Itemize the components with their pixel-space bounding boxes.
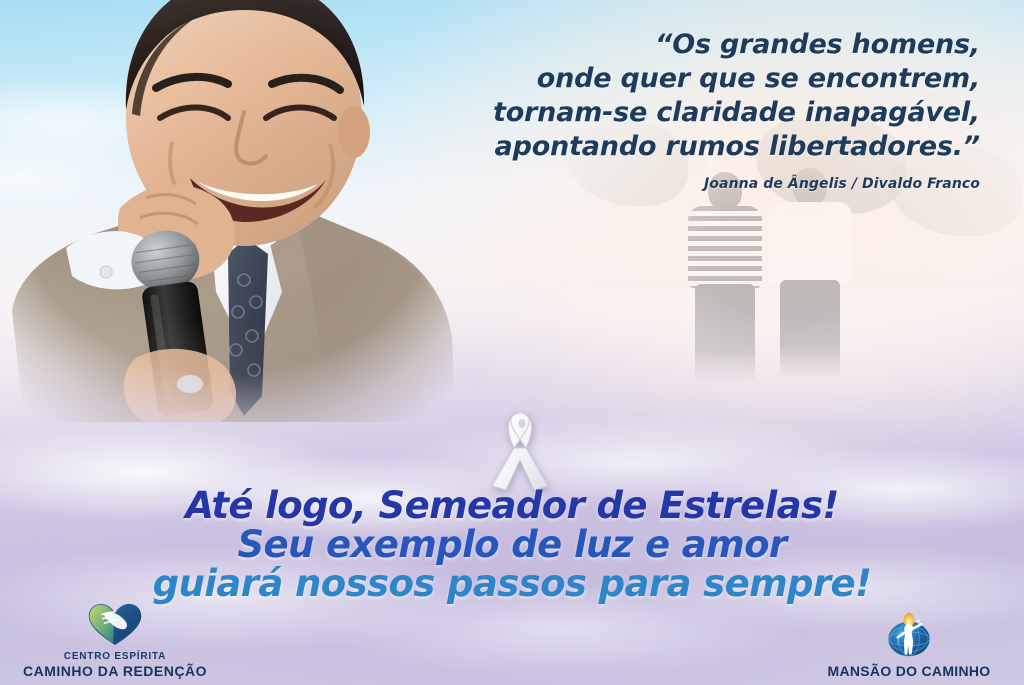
heart-hands-icon: [87, 602, 143, 646]
logo-right-line-1: MANSÃO DO CAMINHO: [802, 663, 1016, 679]
quote-line-4: apontando rumos libertadores.”: [340, 130, 980, 164]
headline-line-1: Até logo, Semeador de Estrelas!: [0, 486, 1024, 525]
logo-mansao-do-caminho: MANSÃO DO CAMINHO: [802, 613, 1016, 679]
quote-line-2: onde quer que se encontrem,: [340, 62, 980, 96]
logo-centro-espirita: CENTRO ESPÍRITA CAMINHO DA REDENÇÃO: [8, 602, 222, 679]
headline-line-2: Seu exemplo de luz e amor: [0, 525, 1024, 564]
quote-line-3: tornam-se claridade inapagável,: [340, 96, 980, 130]
background-figure-striped: [680, 172, 770, 382]
logo-left-line-1: CENTRO ESPÍRITA: [8, 651, 222, 663]
logo-left-line-2: CAMINHO DA REDENÇÃO: [8, 663, 222, 679]
quote-attribution: Joanna de Ângelis / Divaldo Franco: [340, 176, 980, 192]
white-ribbon-icon: [486, 408, 566, 492]
headline-line-3: guiará nossos passos para sempre!: [0, 564, 1024, 603]
background-figure-plain: [762, 168, 858, 382]
quote-block: “Os grandes homens, onde quer que se enc…: [340, 28, 980, 192]
globe-figure-icon: [884, 613, 934, 658]
headline-block: Até logo, Semeador de Estrelas! Seu exem…: [0, 486, 1024, 603]
memorial-poster: “Os grandes homens, onde quer que se enc…: [0, 0, 1024, 685]
quote-line-1: “Os grandes homens,: [340, 28, 980, 62]
